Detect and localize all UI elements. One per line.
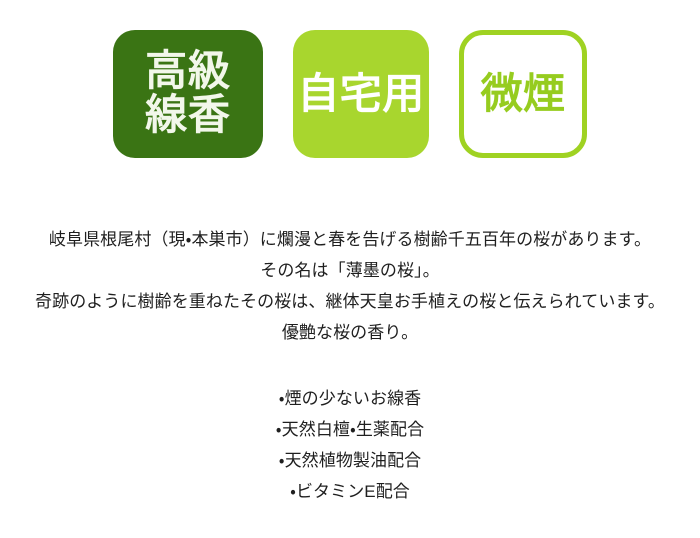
- badge-home-use-line-1: 自宅用: [297, 71, 424, 117]
- feature-list-item: ・ビタミンE配合: [0, 476, 700, 507]
- product-feature-list: ・煙の少ないお線香 ・天然白檀・生薬配合 ・天然植物製油配合 ・ビタミンE配合: [0, 383, 700, 507]
- badge-premium-line-1: 高級: [145, 49, 231, 93]
- badge-home-use: 自宅用: [293, 30, 429, 158]
- feature-badge-row: 高級 線香 自宅用 微煙: [0, 30, 700, 158]
- badge-low-smoke: 微煙: [459, 30, 587, 158]
- badge-premium-incense: 高級 線香: [113, 30, 263, 158]
- badge-premium-line-2: 線香: [145, 93, 231, 137]
- badge-low-smoke-line-1: 微煙: [481, 71, 566, 117]
- product-description-text: 岐阜県根尾村（現・本巣市）に爛漫と春を告げる樹齢千五百年の桜があります。 その名…: [0, 224, 700, 348]
- feature-list-item: ・天然白檀・生薬配合: [0, 414, 700, 445]
- description-line-4: 優艶な桜の香り。: [0, 317, 700, 348]
- description-line-3: 奇跡のように樹齢を重ねたその桜は、継体天皇お手植えの桜と伝えられています。: [0, 286, 700, 317]
- feature-list-item: ・煙の少ないお線香: [0, 383, 700, 414]
- feature-list-item: ・天然植物製油配合: [0, 445, 700, 476]
- product-description-page: 高級 線香 自宅用 微煙 岐阜県根尾村（現・本巣市）に爛漫と春を告げる樹齢千五百…: [0, 0, 700, 538]
- description-line-1: 岐阜県根尾村（現・本巣市）に爛漫と春を告げる樹齢千五百年の桜があります。: [0, 224, 700, 255]
- description-line-2: その名は「薄墨の桜」。: [0, 255, 700, 286]
